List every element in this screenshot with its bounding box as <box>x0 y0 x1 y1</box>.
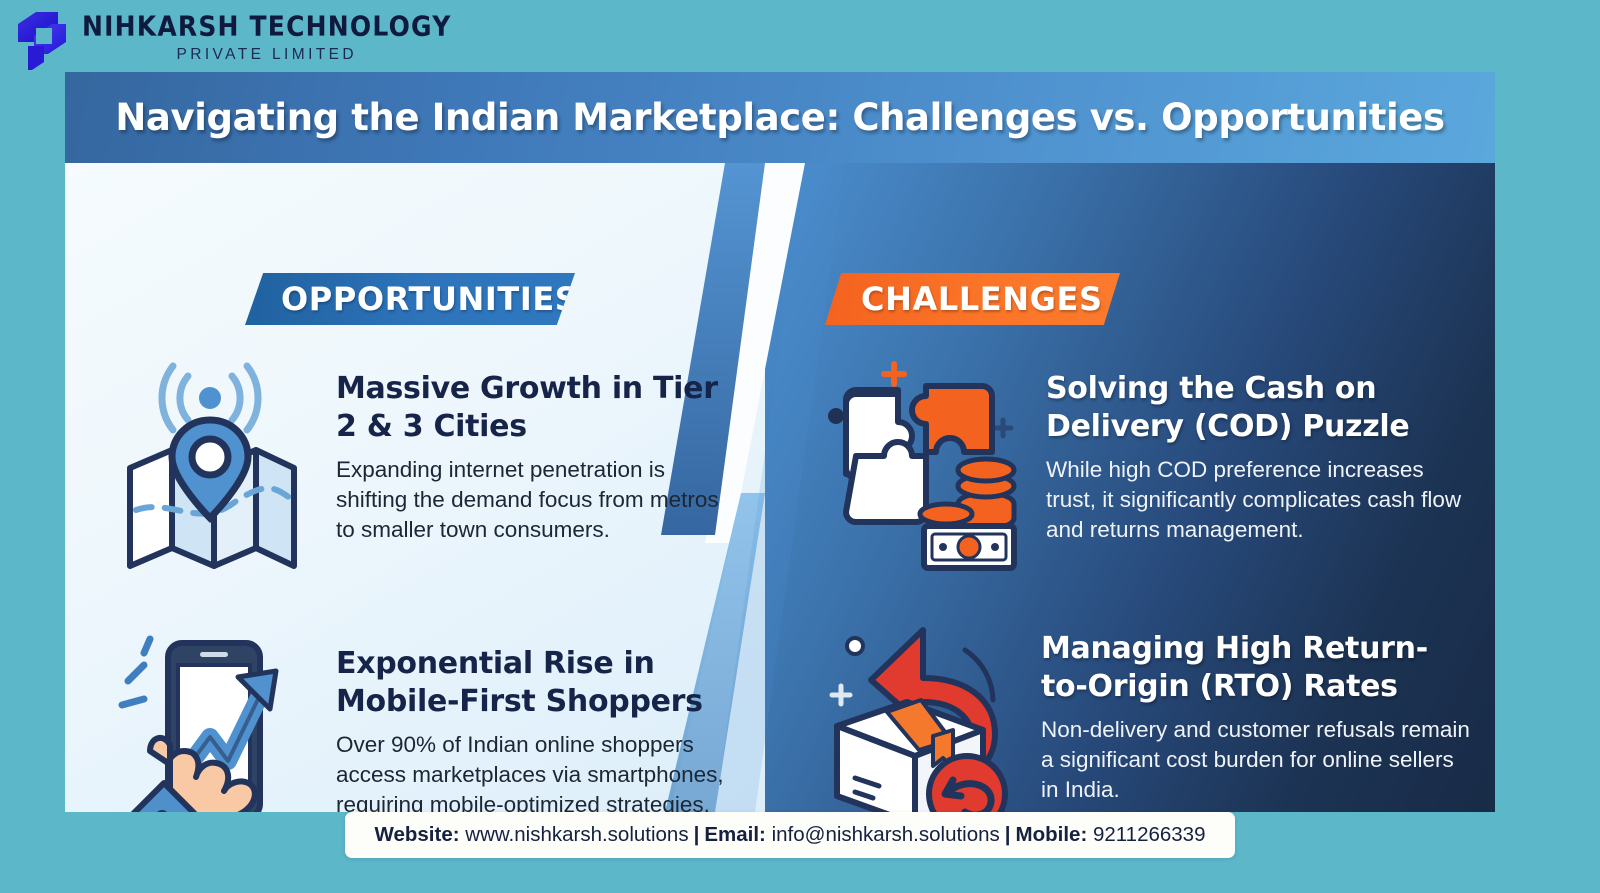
email-label: Email: <box>704 823 766 846</box>
opportunities-badge-label: OPPORTUNITIES <box>281 280 578 318</box>
opportunity-2-heading: Exponential Rise in Mobile-First Shopper… <box>336 645 736 721</box>
content-area: OPPORTUNITIES CHALLENGES <box>65 163 1495 812</box>
challenges-badge-label: CHALLENGES <box>861 280 1103 318</box>
separator-1: | <box>689 823 705 846</box>
brand-name-secondary: PRIVATE LIMITED <box>82 47 452 63</box>
return-box-arrow-icon <box>815 618 1015 812</box>
opportunities-badge: OPPORTUNITIES <box>245 273 575 325</box>
challenges-badge: CHALLENGES <box>825 273 1120 325</box>
separator-2: | <box>1000 823 1016 846</box>
title-bar: Navigating the Indian Marketplace: Chall… <box>65 72 1495 163</box>
hand-smartphone-growth-chart-icon <box>110 633 310 812</box>
infographic-card: Navigating the Indian Marketplace: Chall… <box>65 72 1495 812</box>
website-label: Website: <box>375 823 460 846</box>
opportunity-item-2: Exponential Rise in Mobile-First Shopper… <box>110 633 770 812</box>
nishkarsh-cube-logo-icon <box>14 8 72 70</box>
puzzle-cash-coins-icon <box>820 358 1020 573</box>
brand-logo: NIHKARSH TECHNOLOGY PRIVATE LIMITED <box>14 8 452 70</box>
opportunity-1-body: Expanding internet penetration is shifti… <box>336 455 736 544</box>
page-title: Navigating the Indian Marketplace: Chall… <box>115 96 1444 139</box>
challenge-item-2: Managing High Return-to-Origin (RTO) Rat… <box>815 618 1485 812</box>
brand-name-primary: NIHKARSH TECHNOLOGY <box>82 12 452 40</box>
website-value: www.nishkarsh.solutions <box>465 823 688 846</box>
mobile-value: 9211266339 <box>1093 823 1206 846</box>
contact-footer-text: Website: www.nishkarsh.solutions|Email: … <box>375 823 1206 847</box>
challenge-item-1: Solving the Cash on Delivery (COD) Puzzl… <box>820 358 1480 573</box>
opportunity-1-heading: Massive Growth in Tier 2 & 3 Cities <box>336 370 736 446</box>
contact-footer: Website: www.nishkarsh.solutions|Email: … <box>345 812 1235 858</box>
opportunity-item-1: Massive Growth in Tier 2 & 3 Cities Expa… <box>110 358 760 573</box>
challenge-1-body: While high COD preference increases trus… <box>1046 455 1476 544</box>
challenge-2-body: Non-delivery and customer refusals remai… <box>1041 715 1471 804</box>
opportunity-2-body: Over 90% of Indian online shoppers acces… <box>336 730 736 812</box>
challenge-1-heading: Solving the Cash on Delivery (COD) Puzzl… <box>1046 370 1476 446</box>
challenge-2-heading: Managing High Return-to-Origin (RTO) Rat… <box>1041 630 1471 706</box>
mobile-label: Mobile: <box>1016 823 1088 846</box>
email-value: info@nishkarsh.solutions <box>772 823 1000 846</box>
map-location-signal-icon <box>110 358 310 573</box>
